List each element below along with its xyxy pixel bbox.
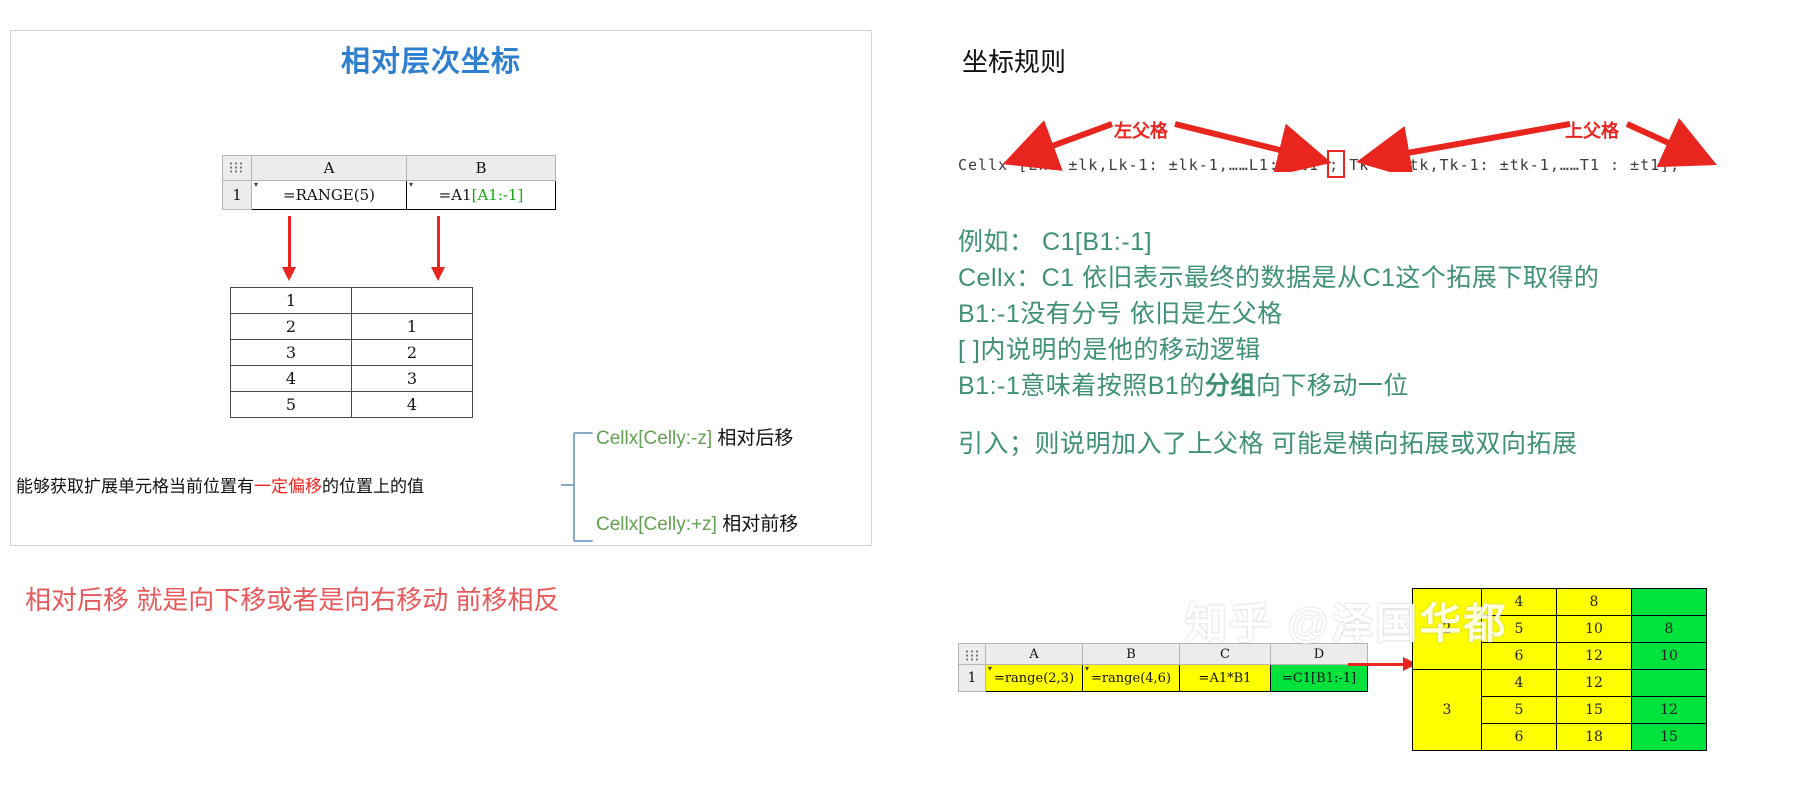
rg-b-3: 6 xyxy=(1482,643,1557,670)
bottom-red-caption: 相对后移 就是向下移或者是向右移动 前移相反 xyxy=(25,580,559,617)
rg-a-2: 3 xyxy=(1413,670,1482,751)
top-spreadsheet: A B 1 ▾ =RANGE(5) ▾ =A1[A1:-1] xyxy=(222,155,556,210)
right-result-grid: 2 4 8 5 10 8 6 12 10 3 4 12 5 15 12 6 18… xyxy=(1412,588,1707,751)
green-line-4: [ ]内说明的是他的移动逻辑 xyxy=(958,330,1261,366)
cell-c1[interactable]: =A1*B1 xyxy=(1180,665,1271,692)
green-line-5-a: B1:-1意味着按照B1的 xyxy=(958,372,1205,400)
note-relative-forward: Cellx[Celly:+z] 相对前移 xyxy=(596,509,798,536)
table-row: 2 4 8 xyxy=(1413,589,1707,616)
table-row: 3 4 12 xyxy=(1413,670,1707,697)
note-relative-backward: Cellx[Celly:-z] 相对后移 xyxy=(596,423,793,450)
rg-a-1: 2 xyxy=(1413,589,1482,670)
select-all-corner-icon[interactable] xyxy=(223,156,252,181)
cell-b1-text: =range(4,6) xyxy=(1091,671,1171,686)
cell-b1[interactable]: ▾ =range(4,6) xyxy=(1083,665,1180,692)
rg-b-1: 4 xyxy=(1482,589,1557,616)
note-back-code: Cellx[Celly:-z] xyxy=(596,428,712,449)
watermark-brand: 知乎 xyxy=(1185,600,1273,647)
column-header-b[interactable]: B xyxy=(407,156,556,181)
cell-b1[interactable]: ▾ =A1[A1:-1] xyxy=(407,181,556,210)
rg-b-5: 5 xyxy=(1482,697,1557,724)
res-a-2: 2 xyxy=(231,314,352,340)
note-fwd-label: 相对前移 xyxy=(722,514,798,535)
cell-d1-text: =C1[B1:-1] xyxy=(1282,671,1356,686)
res-a-1: 1 xyxy=(231,288,352,314)
green-line-5-b: 向下移动一位 xyxy=(1256,372,1409,400)
label-left-parent-cell: 左父格 xyxy=(1114,117,1168,143)
rg-d-3: 10 xyxy=(1632,643,1707,670)
rg-b-4: 4 xyxy=(1482,670,1557,697)
cell-b1-bracket: [A1:-1] xyxy=(472,186,524,204)
rg-d-6: 15 xyxy=(1632,724,1707,751)
column-header-c[interactable]: C xyxy=(1180,644,1271,665)
green-line-1: 例如： C1[B1:-1] xyxy=(958,222,1152,258)
left-panel-title: 相对层次坐标 xyxy=(0,38,862,80)
rg-c-4: 12 xyxy=(1557,670,1632,697)
rg-d-5: 12 xyxy=(1632,697,1707,724)
green-line-3: B1:-1没有分号 依旧是左父格 xyxy=(958,294,1283,330)
label-top-parent-cell: 上父格 xyxy=(1565,117,1619,143)
cell-marker-icon: ▾ xyxy=(409,181,413,189)
right-panel-title: 坐标规则 xyxy=(962,42,1066,79)
cell-a1[interactable]: ▾ =RANGE(5) xyxy=(252,181,407,210)
rg-c-1: 8 xyxy=(1557,589,1632,616)
res-b-3: 2 xyxy=(352,340,473,366)
cell-c1-text: =A1*B1 xyxy=(1199,671,1252,686)
rg-d-2: 8 xyxy=(1632,616,1707,643)
rg-c-2: 10 xyxy=(1557,616,1632,643)
column-header-b[interactable]: B xyxy=(1083,644,1180,665)
green-line-5: B1:-1意味着按照B1的分组向下移动一位 xyxy=(958,366,1409,402)
column-header-a[interactable]: A xyxy=(986,644,1083,665)
res-b-4: 3 xyxy=(352,366,473,392)
cell-marker-icon: ▾ xyxy=(1085,665,1089,673)
rg-c-6: 18 xyxy=(1557,724,1632,751)
table-row: 2 1 xyxy=(231,314,473,340)
row-header-1[interactable]: 1 xyxy=(223,181,252,210)
arrow-down-column-a-icon xyxy=(288,216,291,268)
row-header-1[interactable]: 1 xyxy=(959,665,986,692)
cell-d1[interactable]: =C1[B1:-1] xyxy=(1271,665,1368,692)
brace-bracket-icon xyxy=(573,432,593,542)
table-row: 5 4 xyxy=(231,392,473,418)
column-header-a[interactable]: A xyxy=(252,156,407,181)
res-b-5: 4 xyxy=(352,392,473,418)
left-result-table: 1 2 1 3 2 4 3 5 4 xyxy=(230,287,473,418)
res-b-1 xyxy=(352,288,473,314)
cell-a1[interactable]: ▾ =range(2,3) xyxy=(986,665,1083,692)
bottom-spreadsheet: A B C D 1 ▾ =range(2,3) ▾ =range(4,6) =A… xyxy=(958,643,1368,692)
table-row: 1 xyxy=(231,288,473,314)
rg-c-3: 12 xyxy=(1557,643,1632,670)
table-row: 3 2 xyxy=(231,340,473,366)
note-back-label: 相对后移 xyxy=(717,428,793,449)
table-row: 4 3 xyxy=(231,366,473,392)
arrow-right-to-result-icon xyxy=(1348,663,1404,666)
res-a-4: 4 xyxy=(231,366,352,392)
desc-before: 能够获取扩展单元格当前位置有 xyxy=(16,477,254,496)
arrow-down-column-b-icon xyxy=(437,216,440,268)
res-a-3: 3 xyxy=(231,340,352,366)
column-header-d[interactable]: D xyxy=(1271,644,1368,665)
res-a-5: 5 xyxy=(231,392,352,418)
res-b-2: 1 xyxy=(352,314,473,340)
cell-a1-text: =range(2,3) xyxy=(994,671,1074,686)
cell-marker-icon: ▾ xyxy=(254,181,258,189)
green-line-2: Cellx：C1 依旧表示最终的数据是从C1这个拓展下取得的 xyxy=(958,258,1599,294)
green-line-6: 引入；则说明加入了上父格 可能是横向拓展或双向拓展 xyxy=(958,424,1577,460)
rg-b-2: 5 xyxy=(1482,616,1557,643)
cell-marker-icon: ▾ xyxy=(988,665,992,673)
watermark-separator: @ xyxy=(1273,600,1331,647)
desc-after: 的位置上的值 xyxy=(322,477,424,496)
left-description: 能够获取扩展单元格当前位置有一定偏移的位置上的值 xyxy=(16,472,424,497)
note-fwd-code: Cellx[Celly:+z] xyxy=(596,514,717,535)
rg-c-5: 15 xyxy=(1557,697,1632,724)
rg-b-6: 6 xyxy=(1482,724,1557,751)
cell-b1-text: =A1 xyxy=(439,186,472,204)
rg-d-4 xyxy=(1632,670,1707,697)
desc-highlight: 一定偏移 xyxy=(254,477,322,496)
green-line-5-bold: 分组 xyxy=(1205,372,1256,400)
brace-stem-icon xyxy=(561,484,575,486)
cell-a1-text: =RANGE(5) xyxy=(283,186,375,204)
rg-d-1 xyxy=(1632,589,1707,616)
select-all-corner-icon[interactable] xyxy=(959,644,986,665)
